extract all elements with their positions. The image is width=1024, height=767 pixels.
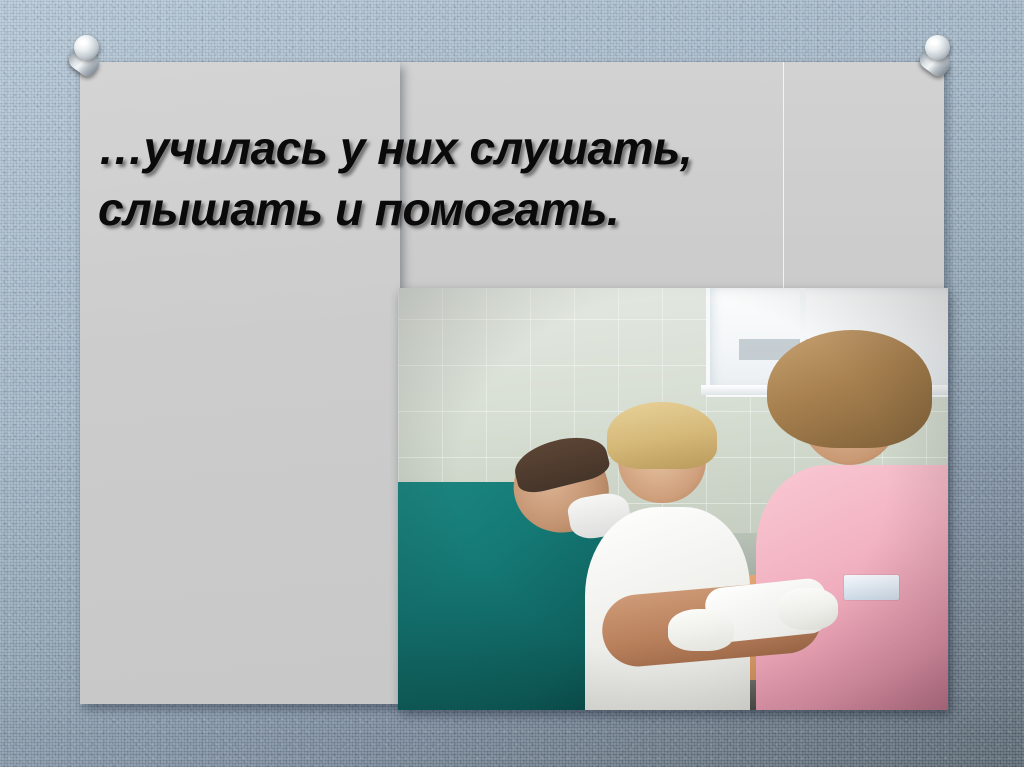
pushpin-top-right-icon <box>914 34 958 80</box>
slide-caption: …училась у них слушать, слышать и помога… <box>98 118 798 240</box>
photograph-content <box>398 288 948 710</box>
photo-vignette <box>398 288 948 710</box>
clinic-photograph <box>398 288 948 710</box>
pushpin-top-left-icon <box>63 34 107 80</box>
pushpin-head <box>74 35 99 60</box>
presentation-slide: …училась у них слушать, слышать и помога… <box>0 0 1024 767</box>
pushpin-head <box>925 35 950 60</box>
